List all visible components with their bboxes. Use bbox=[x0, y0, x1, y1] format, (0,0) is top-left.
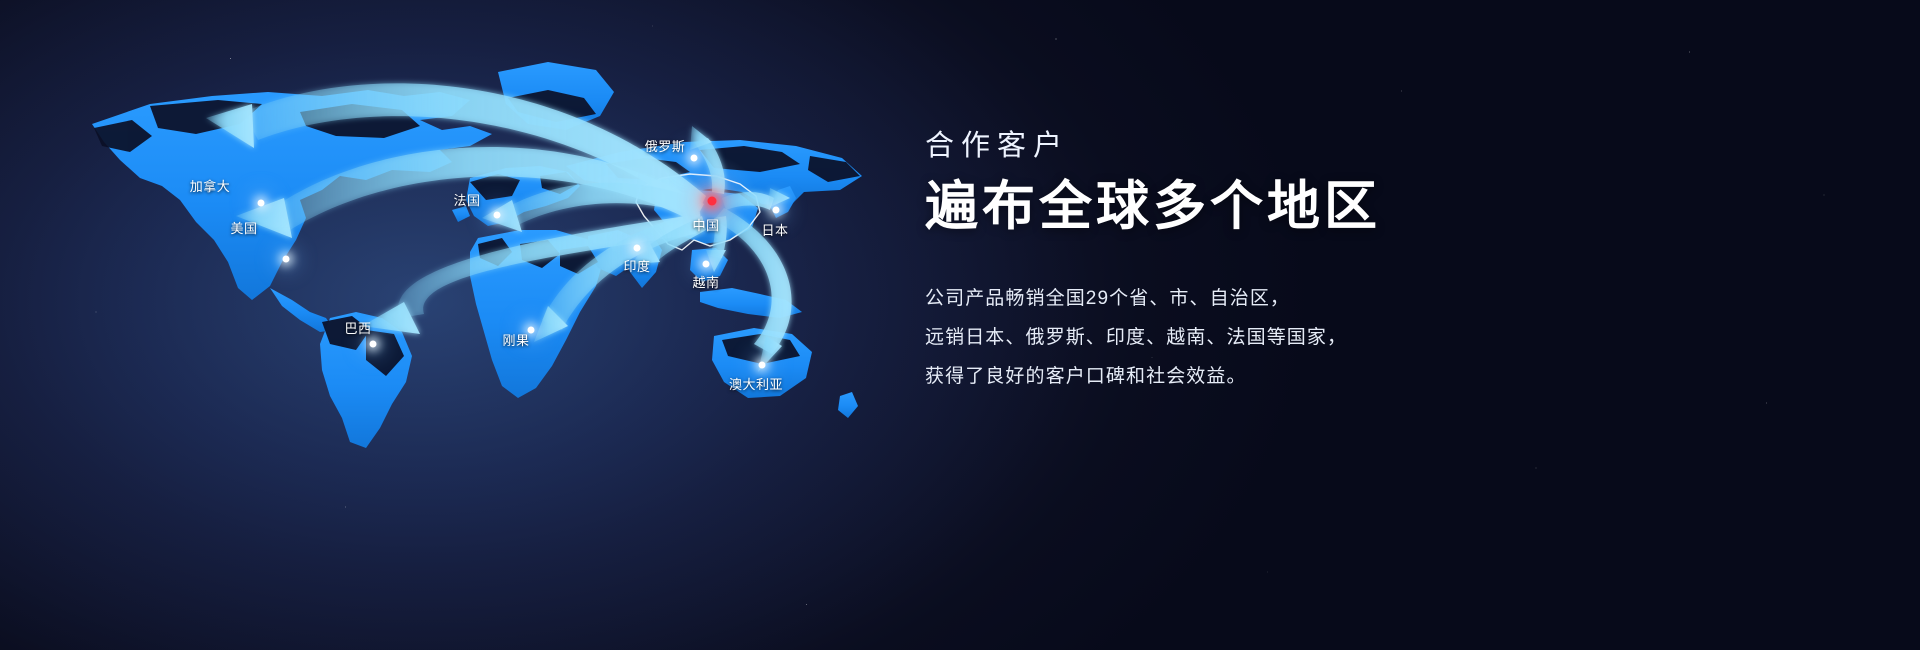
map-marker-dot[interactable] bbox=[528, 327, 535, 334]
map-marker-dot[interactable] bbox=[634, 245, 641, 252]
eyebrow-text: 合作客户 bbox=[925, 128, 1545, 164]
global-clients-banner: 中国加拿大美国巴西法国刚果俄罗斯印度越南日本澳大利亚 合作客户 遍布全球多个地区… bbox=[0, 0, 1920, 650]
description-line: 远销日本、俄罗斯、印度、越南、法国等国家， bbox=[925, 318, 1545, 357]
map-marker-dot[interactable] bbox=[759, 362, 766, 369]
description-line: 获得了良好的客户口碑和社会效益。 bbox=[925, 357, 1545, 396]
world-map bbox=[0, 0, 960, 650]
map-marker-dot[interactable] bbox=[773, 207, 780, 214]
map-marker-dot[interactable] bbox=[708, 197, 717, 206]
map-marker-dot[interactable] bbox=[494, 212, 501, 219]
map-marker-dot[interactable] bbox=[370, 341, 377, 348]
headline-text: 遍布全球多个地区 bbox=[925, 176, 1545, 239]
map-marker-dot[interactable] bbox=[691, 155, 698, 162]
map-marker-dot[interactable] bbox=[258, 200, 265, 207]
banner-text-block: 合作客户 遍布全球多个地区 公司产品畅销全国29个省、市、自治区，远销日本、俄罗… bbox=[925, 128, 1545, 396]
description-paragraph: 公司产品畅销全国29个省、市、自治区，远销日本、俄罗斯、印度、越南、法国等国家，… bbox=[925, 279, 1545, 396]
map-marker-dot[interactable] bbox=[703, 261, 710, 268]
description-line: 公司产品畅销全国29个省、市、自治区， bbox=[925, 279, 1545, 318]
map-marker-dot[interactable] bbox=[283, 256, 290, 263]
